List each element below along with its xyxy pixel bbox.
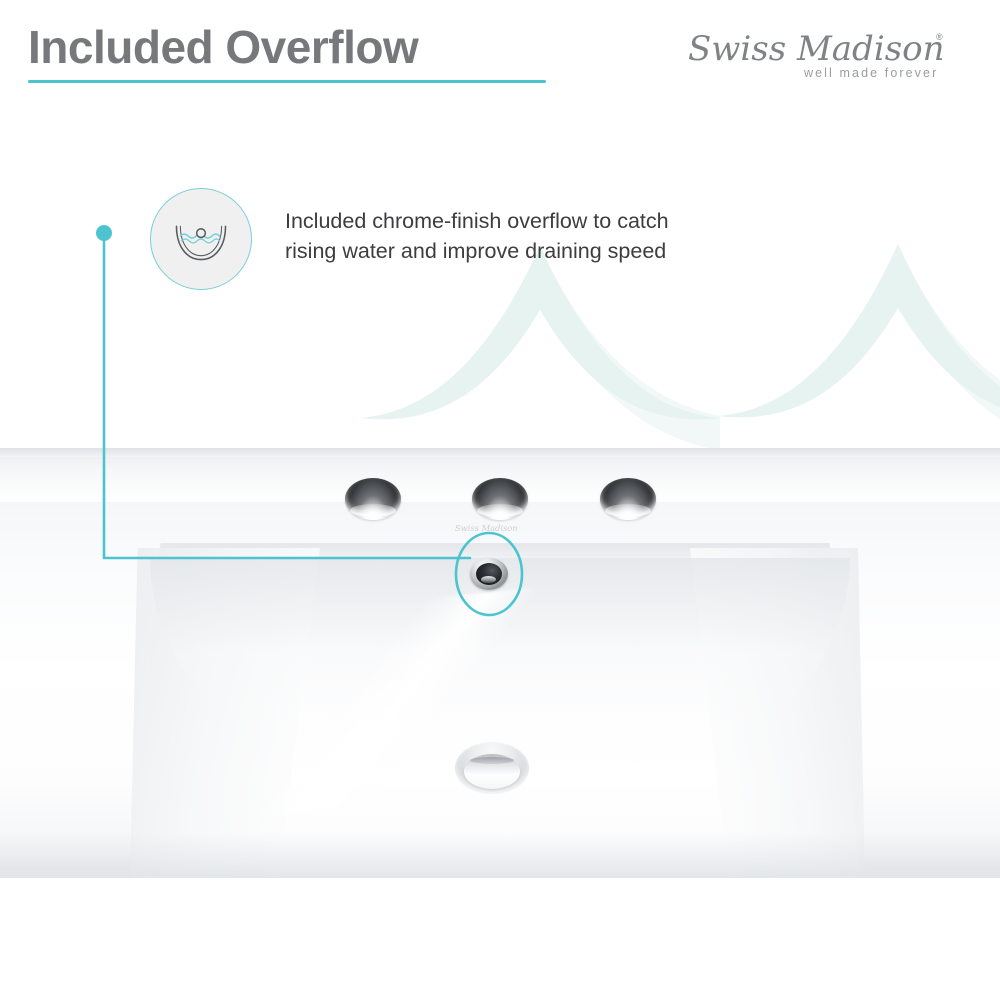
overflow-feature-description: Included chrome-finish overflow to catch… xyxy=(285,206,755,266)
basin-front-shadow xyxy=(0,832,1000,878)
overflow-highlight xyxy=(481,576,496,583)
drain-gap xyxy=(470,757,514,764)
overflow-feature-badge xyxy=(150,188,252,290)
faucet-hole-center xyxy=(472,478,528,520)
sink-back-edge xyxy=(0,448,1000,457)
background-wave-pattern xyxy=(0,150,1000,470)
brand-logo: Swiss Madison ® well made forever xyxy=(684,24,974,84)
page-title: Included Overflow xyxy=(28,22,418,73)
description-line-2: rising water and improve draining speed xyxy=(285,236,755,266)
brand-name-text: Swiss Madison xyxy=(688,29,945,69)
registered-mark: ® xyxy=(936,32,943,42)
ceramic-sink-photo xyxy=(0,448,1000,878)
description-line-1: Included chrome-finish overflow to catch xyxy=(285,206,755,236)
svg-text:Swiss Madison: Swiss Madison xyxy=(455,523,518,533)
overflow-drain xyxy=(470,558,508,590)
deck-embossed-brand: Swiss Madison xyxy=(455,521,543,535)
infographic-canvas: Swiss Madison Included chrome-finish o xyxy=(0,0,1000,1000)
basin-drain xyxy=(455,742,529,794)
sink-overflow-icon xyxy=(151,189,251,289)
title-underline xyxy=(28,80,546,83)
faucet-hole-left xyxy=(345,478,401,520)
faucet-hole-right xyxy=(600,478,656,520)
brand-tagline-text: well made forever xyxy=(803,66,938,80)
